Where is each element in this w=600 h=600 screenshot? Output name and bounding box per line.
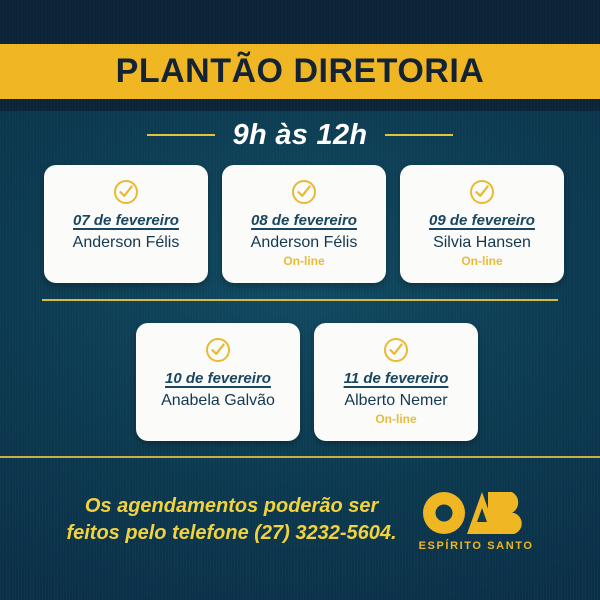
oab-logo-mark [422, 489, 530, 537]
top-strip [0, 0, 600, 44]
schedule-card[interactable]: 11 de fevereiro Alberto Nemer On-line [314, 323, 478, 441]
subtitle-rule-left [147, 134, 215, 136]
schedule-row-2: 10 de fevereiro Anabela Galvão 11 de fev… [136, 323, 478, 441]
schedule-card[interactable]: 09 de fevereiro Silvia Hansen On-line [400, 165, 564, 283]
card-mode: On-line [461, 254, 502, 268]
page-title: PLANTÃO DIRETORIA [116, 52, 485, 91]
subtitle-row: 9h às 12h [0, 115, 600, 155]
card-date: 08 de fevereiro [251, 212, 357, 229]
card-name: Anabela Galvão [161, 392, 275, 410]
title-band-underline-strip [0, 99, 600, 111]
card-date: 11 de fevereiro [344, 370, 449, 387]
card-date: 07 de fevereiro [73, 212, 179, 229]
check-circle-icon [383, 337, 409, 363]
card-mode: On-line [375, 412, 416, 426]
card-mode: On-line [283, 254, 324, 268]
schedule-card[interactable]: 10 de fevereiro Anabela Galvão [136, 323, 300, 441]
subtitle-rule-right [385, 134, 453, 136]
card-name: Anderson Félis [251, 234, 358, 252]
schedule-row-1: 07 de fevereiro Anderson Félis 08 de fev… [44, 165, 564, 283]
oab-logo: ESPÍRITO SANTO [419, 489, 534, 552]
schedule-card[interactable]: 08 de fevereiro Anderson Félis On-line [222, 165, 386, 283]
poster: PLANTÃO DIRETORIA 9h às 12h 07 de fevere… [0, 0, 600, 600]
card-date: 10 de fevereiro [165, 370, 271, 387]
section-divider [42, 299, 558, 301]
card-name: Silvia Hansen [433, 234, 531, 252]
check-circle-icon [113, 179, 139, 205]
footer: Os agendamentos poderão ser feitos pelo … [0, 470, 600, 570]
check-circle-icon [205, 337, 231, 363]
subtitle-hours: 9h às 12h [233, 119, 368, 152]
check-circle-icon [291, 179, 317, 205]
card-date: 09 de fevereiro [429, 212, 535, 229]
schedule-card[interactable]: 07 de fevereiro Anderson Félis [44, 165, 208, 283]
oab-logo-subtitle: ESPÍRITO SANTO [419, 540, 534, 552]
card-name: Alberto Nemer [344, 392, 447, 410]
title-band: PLANTÃO DIRETORIA [0, 44, 600, 99]
footer-contact-text: Os agendamentos poderão ser feitos pelo … [66, 493, 396, 547]
check-circle-icon [469, 179, 495, 205]
card-name: Anderson Félis [73, 234, 180, 252]
footer-divider [0, 456, 600, 458]
